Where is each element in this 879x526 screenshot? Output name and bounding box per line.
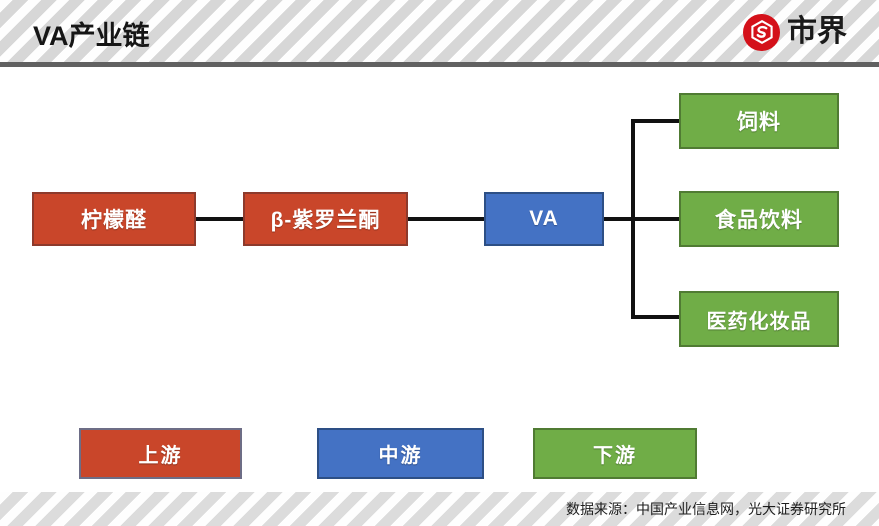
page-title: VA产业链 xyxy=(33,14,150,53)
brand-logo-text: 市界 xyxy=(787,17,847,47)
node-citral[interactable]: 柠檬醛 xyxy=(32,192,196,246)
connector-beta-ionone-to-va xyxy=(408,217,485,221)
connector-branch-to-food-beverage xyxy=(631,217,680,221)
slide-infographic: VA产业链 市界 柠檬醛 β-紫罗兰酮 xyxy=(0,0,879,526)
node-food-beverage[interactable]: 食品饮料 xyxy=(679,191,839,247)
legend-item-midstream[interactable]: 中游 xyxy=(317,428,484,479)
node-beta-ionone[interactable]: β-紫罗兰酮 xyxy=(243,192,408,246)
connector-citral-to-beta-ionone xyxy=(196,217,244,221)
brand-logo: 市界 xyxy=(743,13,847,51)
connector-branch-to-pharma-cosmetics xyxy=(631,315,680,319)
slide-header: VA产业链 市界 xyxy=(0,0,879,62)
diagram-canvas: 柠檬醛 β-紫罗兰酮 VA 饲料 食品饮料 医药化妆品 上游 中游 下游 xyxy=(0,67,879,492)
node-va[interactable]: VA xyxy=(484,192,604,246)
shiji-hexagon-s-logo-icon xyxy=(743,14,780,51)
slide-footer: 数据来源：中国产业信息网，光大证券研究所 xyxy=(0,492,879,526)
node-feed[interactable]: 饲料 xyxy=(679,93,839,149)
node-pharma-cosmetics[interactable]: 医药化妆品 xyxy=(679,291,839,347)
legend-item-upstream[interactable]: 上游 xyxy=(79,428,242,479)
connector-branch-to-feed xyxy=(631,119,680,123)
data-source-note: 数据来源：中国产业信息网，光大证券研究所 xyxy=(566,499,846,519)
legend-item-downstream[interactable]: 下游 xyxy=(533,428,697,479)
